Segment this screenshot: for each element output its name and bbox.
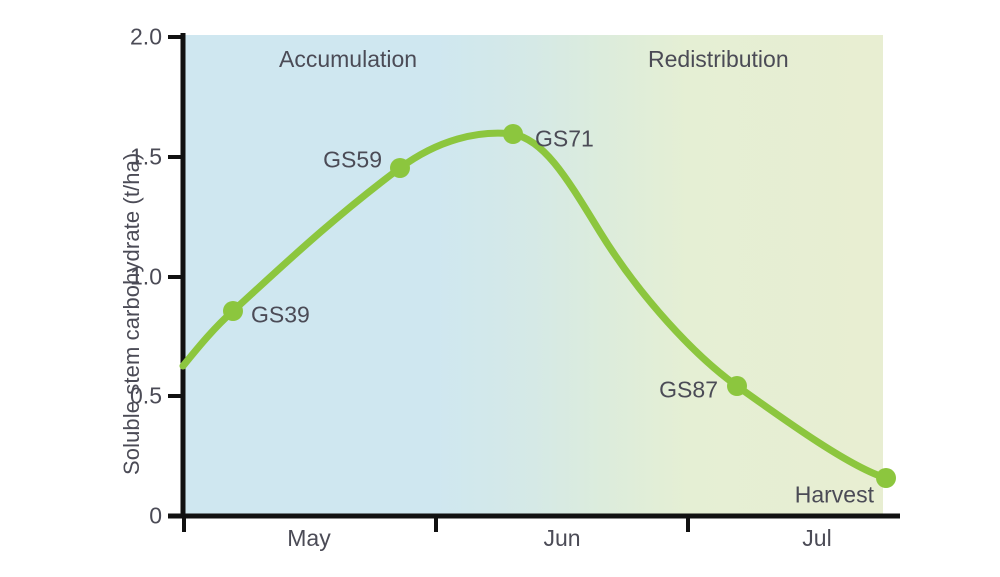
data-point-gs71[interactable] bbox=[503, 124, 523, 144]
phase-label-redistribution: Redistribution bbox=[648, 48, 789, 71]
point-label-gs39: GS39 bbox=[251, 304, 310, 327]
data-point-gs87[interactable] bbox=[727, 376, 747, 396]
point-label-gs59: GS59 bbox=[323, 149, 382, 172]
point-label-gs71: GS71 bbox=[535, 128, 594, 151]
point-label-harvest: Harvest bbox=[795, 484, 874, 507]
plot-background bbox=[183, 35, 883, 516]
chart-figure: Soluble stem carbohydrate (t/ha) 0 0.5 1… bbox=[0, 0, 1000, 577]
phase-label-accumulation: Accumulation bbox=[279, 48, 417, 71]
data-point-gs59[interactable] bbox=[390, 158, 410, 178]
data-point-harvest[interactable] bbox=[876, 468, 896, 488]
data-point-gs39[interactable] bbox=[223, 301, 243, 321]
point-label-gs87: GS87 bbox=[659, 379, 718, 402]
